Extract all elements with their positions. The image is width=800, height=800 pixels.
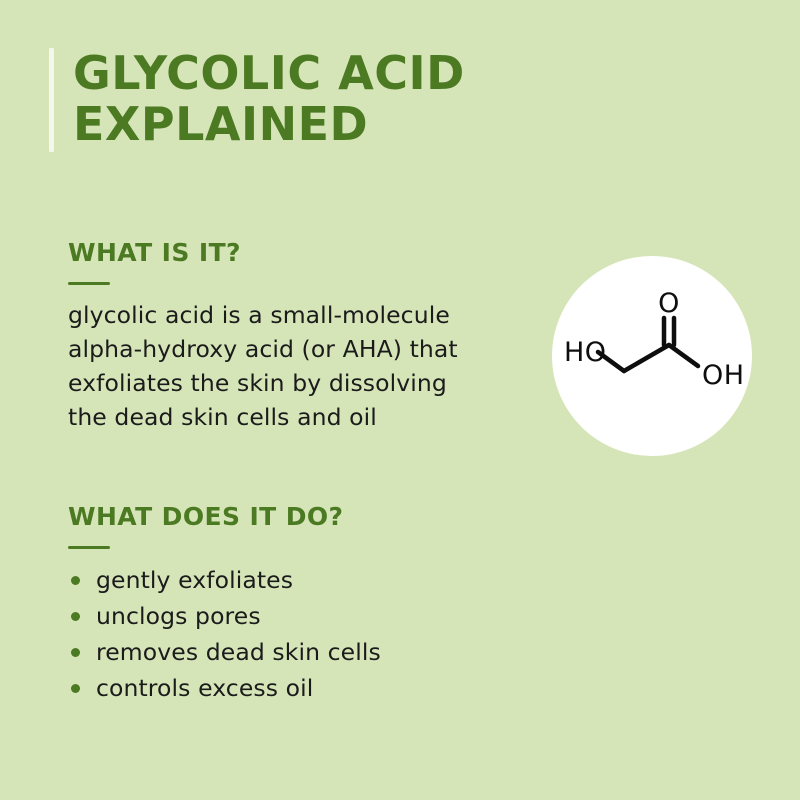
section-heading-what-is-it: WHAT IS IT? [68, 238, 523, 268]
list-item: controls excess oil [68, 670, 381, 706]
list-item: removes dead skin cells [68, 634, 381, 670]
bond-ch2-to-carbonyl-carbon [624, 345, 669, 371]
glycolic-acid-molecule-icon: HO O OH [552, 256, 752, 456]
section-body-what-is-it: glycolic acid is a small-molecule alpha-… [68, 298, 523, 434]
title-accent-bar [49, 48, 54, 152]
page-title: GLYCOLIC ACID EXPLAINED [49, 48, 529, 152]
molecule-label-carboxyl-hydroxyl: OH [702, 360, 745, 391]
poster-canvas: GLYCOLIC ACID EXPLAINED WHAT IS IT? glyc… [0, 0, 800, 800]
molecule-label-carbonyl-oxygen: O [658, 288, 680, 319]
section-divider [68, 546, 110, 549]
benefits-list: gently exfoliates unclogs pores removes … [68, 562, 381, 706]
page-title-text: GLYCOLIC ACID EXPLAINED [73, 48, 465, 152]
molecule-badge: HO O OH [552, 256, 752, 456]
section-heading-what-does-it-do: WHAT DOES IT DO? [68, 502, 381, 532]
section-what-does-it-do: WHAT DOES IT DO? gently exfoliates unclo… [68, 502, 381, 706]
list-item: unclogs pores [68, 598, 381, 634]
molecule-label-hydroxyl-left: HO [564, 337, 607, 368]
section-what-is-it: WHAT IS IT? glycolic acid is a small-mol… [68, 238, 523, 434]
list-item: gently exfoliates [68, 562, 381, 598]
bond-carbon-to-hydroxyl [669, 345, 698, 366]
section-divider [68, 282, 110, 285]
